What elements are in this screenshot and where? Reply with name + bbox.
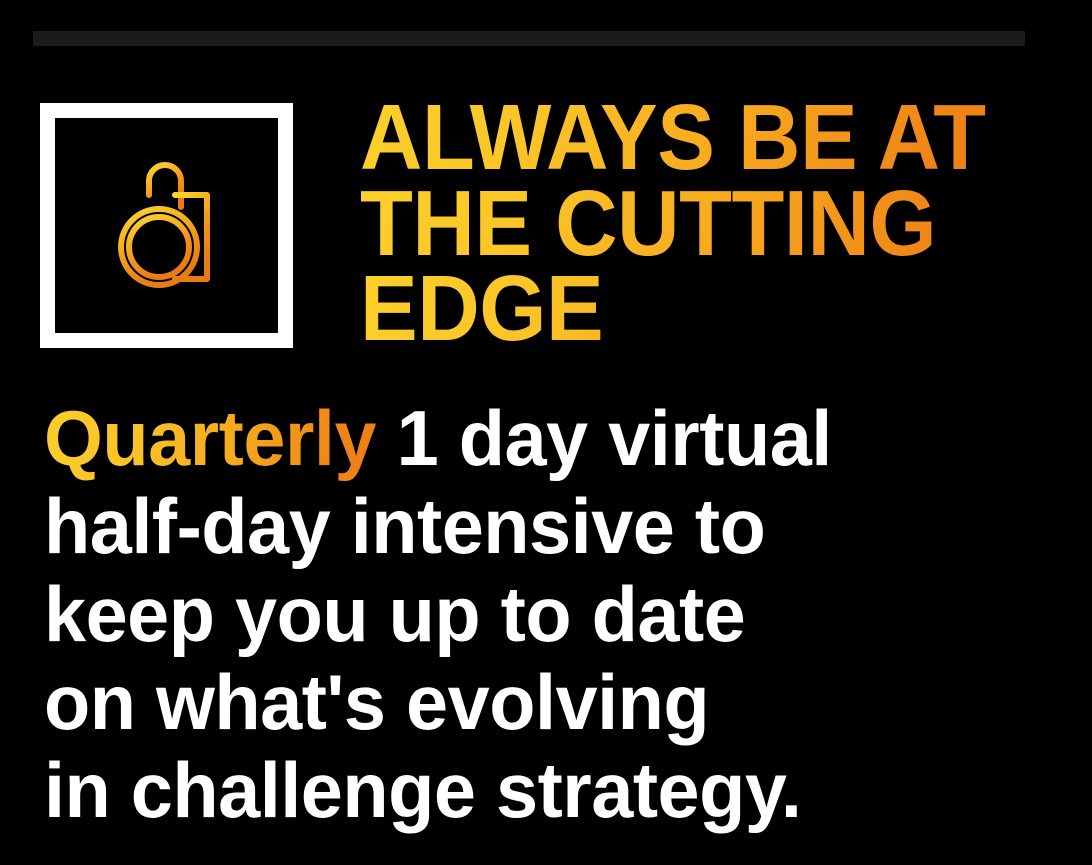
top-divider-bar (33, 31, 1025, 46)
body-line-3: keep you up to date (44, 570, 1033, 658)
body-line-1: Quarterly 1 day virtual (44, 394, 1033, 482)
body-line-1-rest: 1 day virtual (376, 394, 832, 482)
body-copy: Quarterly 1 day virtual half-day intensi… (44, 394, 1064, 834)
headline-line-1: ALWAYS BE AT (360, 95, 1002, 181)
headline-line-2: THE CUTTING (360, 181, 1002, 267)
body-line-5: in challenge strategy. (44, 746, 1033, 834)
headline-line-3: EDGE (360, 266, 1002, 352)
body-line-4: on what's evolving (44, 658, 1033, 746)
lightbulb-flask-icon (103, 151, 231, 301)
icon-canvas (55, 118, 278, 333)
headline: ALWAYS BE AT THE CUTTING EDGE (360, 95, 1050, 352)
icon-frame (40, 103, 293, 348)
header-row: ALWAYS BE AT THE CUTTING EDGE (40, 103, 1050, 353)
slide-root: { "slide": { "background_color": "#00000… (0, 0, 1092, 865)
accent-word: Quarterly (44, 394, 376, 482)
body-line-2: half-day intensive to (44, 482, 1033, 570)
